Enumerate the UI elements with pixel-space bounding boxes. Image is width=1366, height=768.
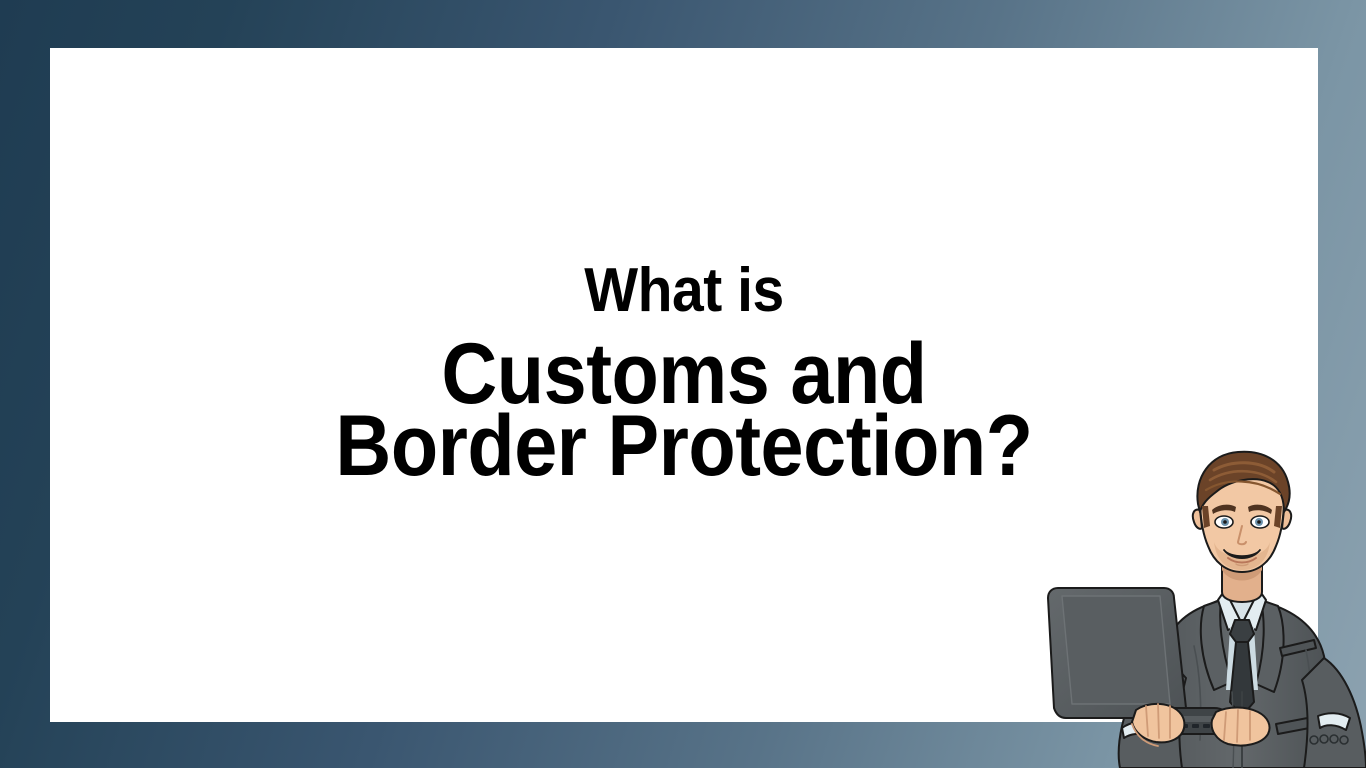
slide-title-line-3: Border Protection? [113,403,1254,489]
slide-content-panel: What is Customs and Border Protection? [50,48,1318,722]
slide-title-line-1: What is [101,260,1268,322]
slide-canvas: What is Customs and Border Protection? [0,0,1366,768]
